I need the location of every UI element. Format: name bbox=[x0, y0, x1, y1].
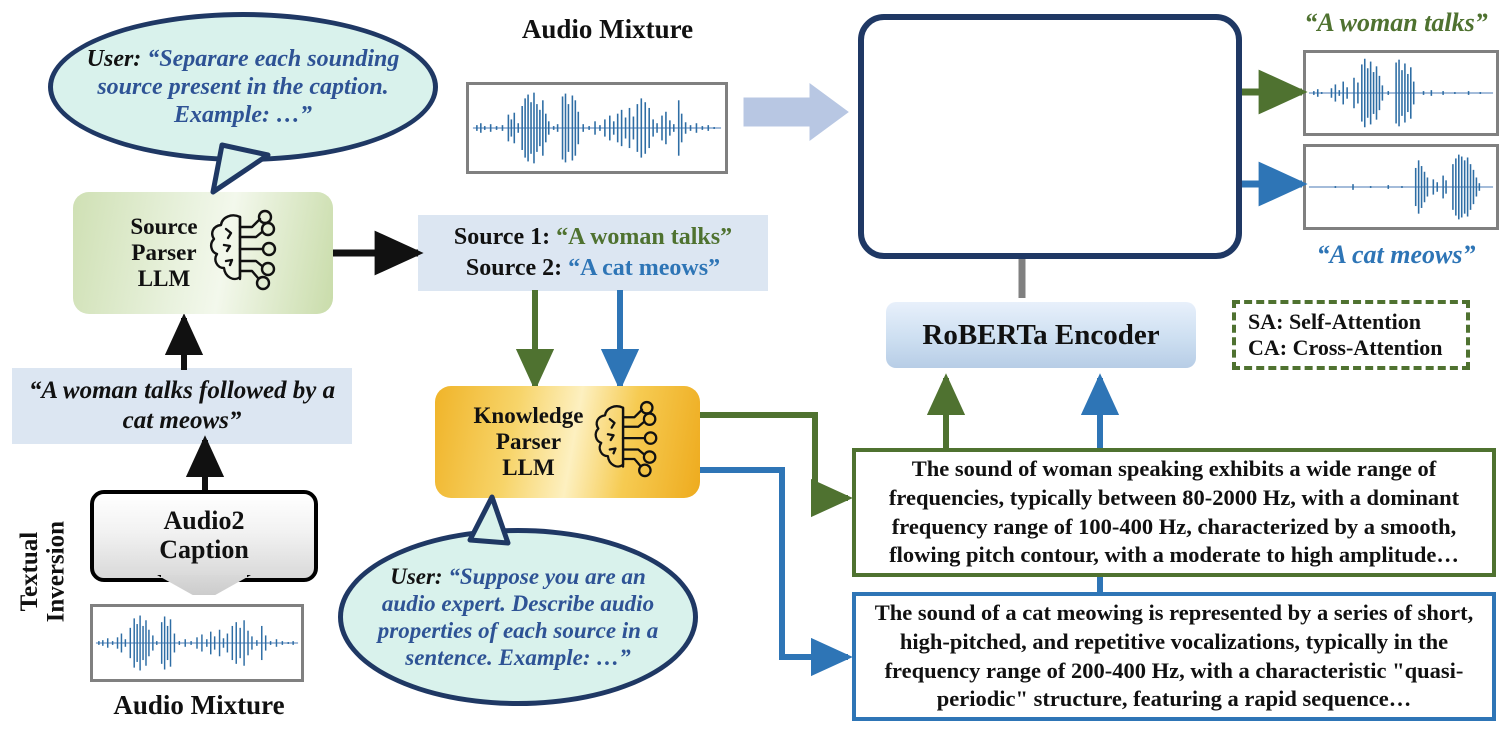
bubble-tail-layer-2 bbox=[0, 0, 1502, 735]
figure-canvas: Audio Mixture bbox=[0, 0, 1502, 735]
